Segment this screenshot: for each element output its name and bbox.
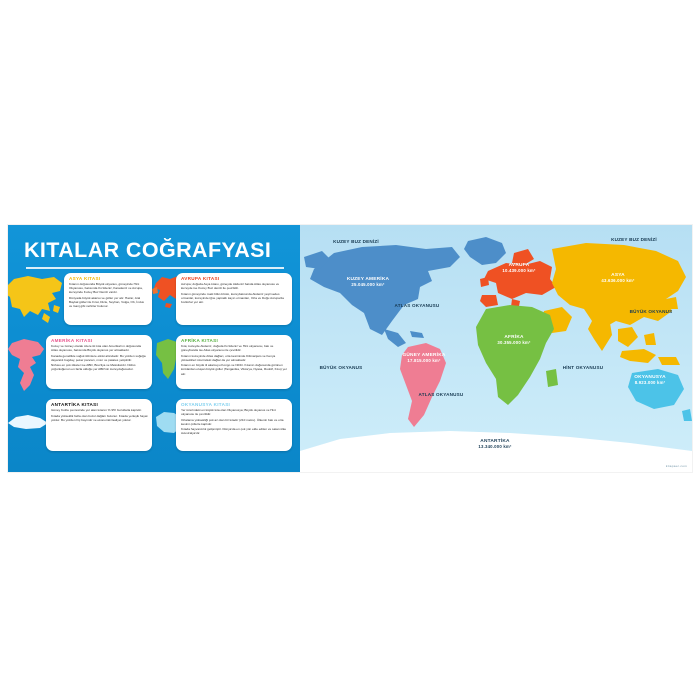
north-america-shape xyxy=(310,245,460,335)
iberia-shape xyxy=(480,295,498,307)
card-antartika-heading: ANTARTİKA KITASI xyxy=(51,402,148,407)
card-afrika-paragraph-1: Kıta; kuzeyde Akdeniz, doğuda Kızıldeniz… xyxy=(181,344,288,352)
philippines-shape xyxy=(644,333,656,345)
card-avrupa-heading: AVRUPA KITASI xyxy=(181,276,288,281)
africa-shape xyxy=(476,305,554,405)
card-antartika-paragraph-1: Güney Kutbu çevresinde yer alan kıtanın … xyxy=(51,408,148,412)
kitalar-cografyasi-poster: KITALAR COĞRAFYASI xyxy=(8,225,692,472)
card-antartika: ANTARTİKA KITASI Güney Kutbu çevresinde … xyxy=(46,399,152,451)
japan-shape xyxy=(666,297,678,309)
card-avrupa: AVRUPA KITASI Avrupa; doğuda Asya kıtası… xyxy=(176,273,292,325)
world-map-panel: KUZEY BUZ DENİZİ KUZEY BUZ DENİZİ ATLAS … xyxy=(300,225,692,472)
card-asya-heading: ASYA KITASI xyxy=(69,276,148,281)
scandinavia-shape xyxy=(512,249,534,265)
world-map-graphic xyxy=(300,225,692,472)
card-amerika-paragraph-2: Kanada genellikle soğuk iklimlere etkisi… xyxy=(51,354,148,362)
screenshot-canvas: KITALAR COĞRAFYASI xyxy=(0,0,700,700)
uk-shape xyxy=(480,277,489,287)
watermark: kitapsec.com xyxy=(666,464,687,468)
card-amerika: AMERİKA KITASI Kuzey ve Güney olarak üze… xyxy=(46,335,152,389)
card-avrupa-paragraph-1: Avrupa; doğuda Asya kıtası, güneyde Akde… xyxy=(181,282,288,290)
card-okyanusya-paragraph-2: Ortalama yüksekliği çok az olan bir kıta… xyxy=(181,418,288,426)
card-amerika-paragraph-3: Nüfusu en çok ülkeler ise ABD, Brezilya … xyxy=(51,363,148,371)
card-okyanusya-paragraph-3: Kıtada hayvancılık gelişmiştir. Dünya'da… xyxy=(181,427,288,435)
america-silhouette-icon xyxy=(8,337,50,393)
asia-silhouette-icon xyxy=(8,273,66,325)
page-title: KITALAR COĞRAFYASI xyxy=(24,238,294,263)
card-afrika: AFRİKA KITASI Kıta; kuzeyde Akdeniz, doğ… xyxy=(176,335,292,389)
card-okyanusya: OKYANUSYA KITASI Yer üzerindeki en küçük… xyxy=(176,399,292,451)
new-zealand-shape xyxy=(682,409,692,421)
card-asya-paragraph-1: Kıtanın doğusunda Büyük okyanus, güneyin… xyxy=(69,282,148,294)
card-okyanusya-paragraph-1: Yer üzerindeki en küçük kıta olan Okyanu… xyxy=(181,408,288,416)
card-amerika-heading: AMERİKA KITASI xyxy=(51,338,148,343)
card-asya-paragraph-2: Dünyada büyük akarsu ve göller yer alır.… xyxy=(69,296,148,308)
card-asya: ASYA KITASI Kıtanın doğusunda Büyük okya… xyxy=(64,273,152,325)
asia-shape xyxy=(552,243,686,329)
antarctica-shape xyxy=(300,431,692,472)
greenland-shape xyxy=(464,237,506,265)
card-afrika-heading: AFRİKA KITASI xyxy=(181,338,288,343)
card-amerika-paragraph-1: Kuzey ve Güney olarak üzere iki kıta ola… xyxy=(51,344,148,352)
card-avrupa-paragraph-2: Kıtanın güneyinde maki bitki örtüsü, kuz… xyxy=(181,292,288,304)
info-panel: KITALAR COĞRAFYASI xyxy=(8,225,300,472)
new-guinea-shape xyxy=(658,357,680,365)
title-underline xyxy=(26,267,284,269)
australia-shape xyxy=(628,369,684,409)
central-america-shape xyxy=(384,329,406,347)
southeast-asia-shape xyxy=(618,327,638,347)
indonesia-shape xyxy=(620,349,656,363)
card-afrika-paragraph-3: Kıtanın en büyük ili akarsuyu Kongo ve N… xyxy=(181,363,288,375)
madagascar-shape xyxy=(546,369,558,387)
card-antartika-paragraph-2: Kıtada yükseklik fazla olan buzul dağlar… xyxy=(51,414,148,422)
card-okyanusya-heading: OKYANUSYA KITASI xyxy=(181,402,288,407)
south-america-shape xyxy=(400,343,446,427)
europe-shape xyxy=(484,261,556,299)
caribbean-shape xyxy=(410,331,424,338)
india-shape xyxy=(588,321,612,351)
antarctica-silhouette-icon xyxy=(8,411,50,433)
card-afrika-paragraph-2: Kıtanın kuzeyinde Atlas dağları, orta ke… xyxy=(181,354,288,362)
